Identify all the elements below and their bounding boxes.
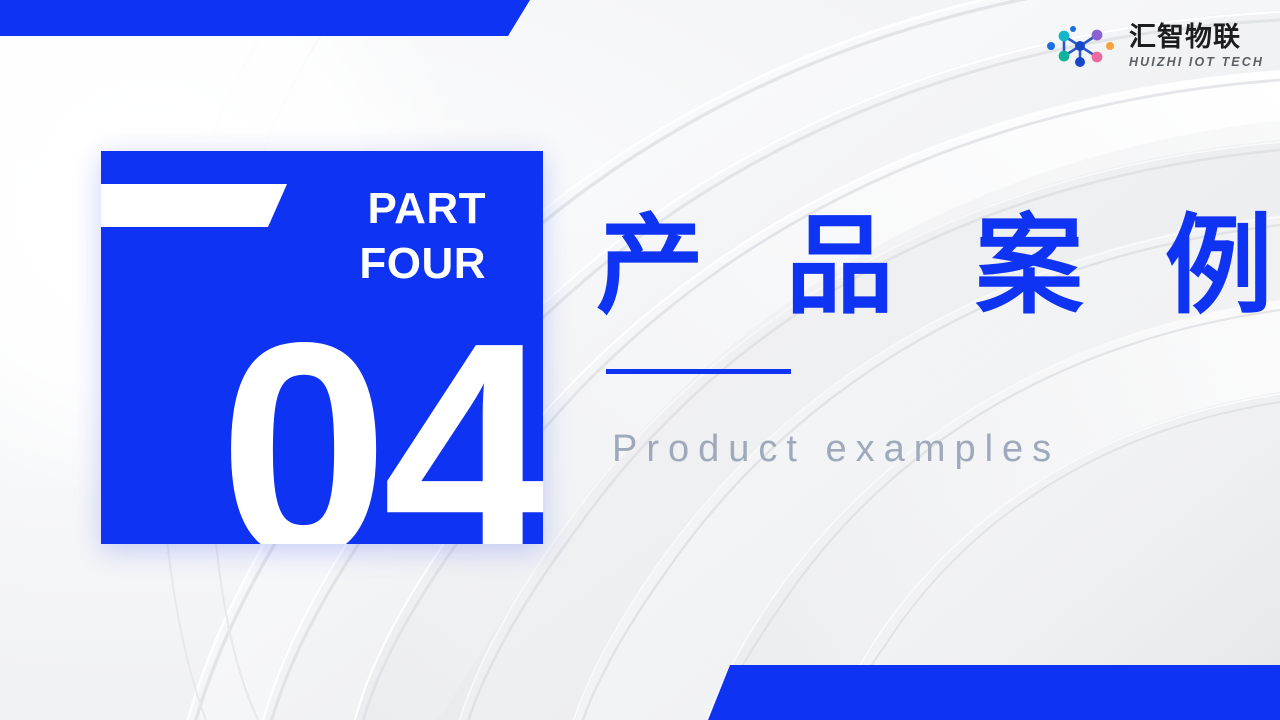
huizhi-molecule-logo-icon xyxy=(1042,24,1120,68)
logo-company-name-en: HUIZHI IOT TECH xyxy=(1129,56,1264,69)
logo-wordmark: 汇智物联 HUIZHI IOT TECH xyxy=(1129,24,1264,69)
title-underline-rule xyxy=(606,369,791,374)
part-card-white-bar xyxy=(101,184,287,227)
bottom-right-accent-banner xyxy=(708,665,1280,720)
part-label: PART FOUR xyxy=(359,181,486,291)
section-part-card: PART FOUR 04 xyxy=(101,151,543,544)
page-title: 产 品 案 例 xyxy=(596,208,1280,326)
part-number: 04 xyxy=(219,297,543,544)
page-subtitle: Product examples xyxy=(612,425,1060,473)
part-label-line-1: PART xyxy=(359,181,486,236)
company-logo: 汇智物联 HUIZHI IOT TECH xyxy=(1042,24,1264,69)
logo-company-name-cn: 汇智物联 xyxy=(1129,24,1264,51)
top-left-accent-banner xyxy=(0,0,530,36)
slide-root: PART FOUR 04 产 品 案 例 Product examples xyxy=(0,0,1280,720)
